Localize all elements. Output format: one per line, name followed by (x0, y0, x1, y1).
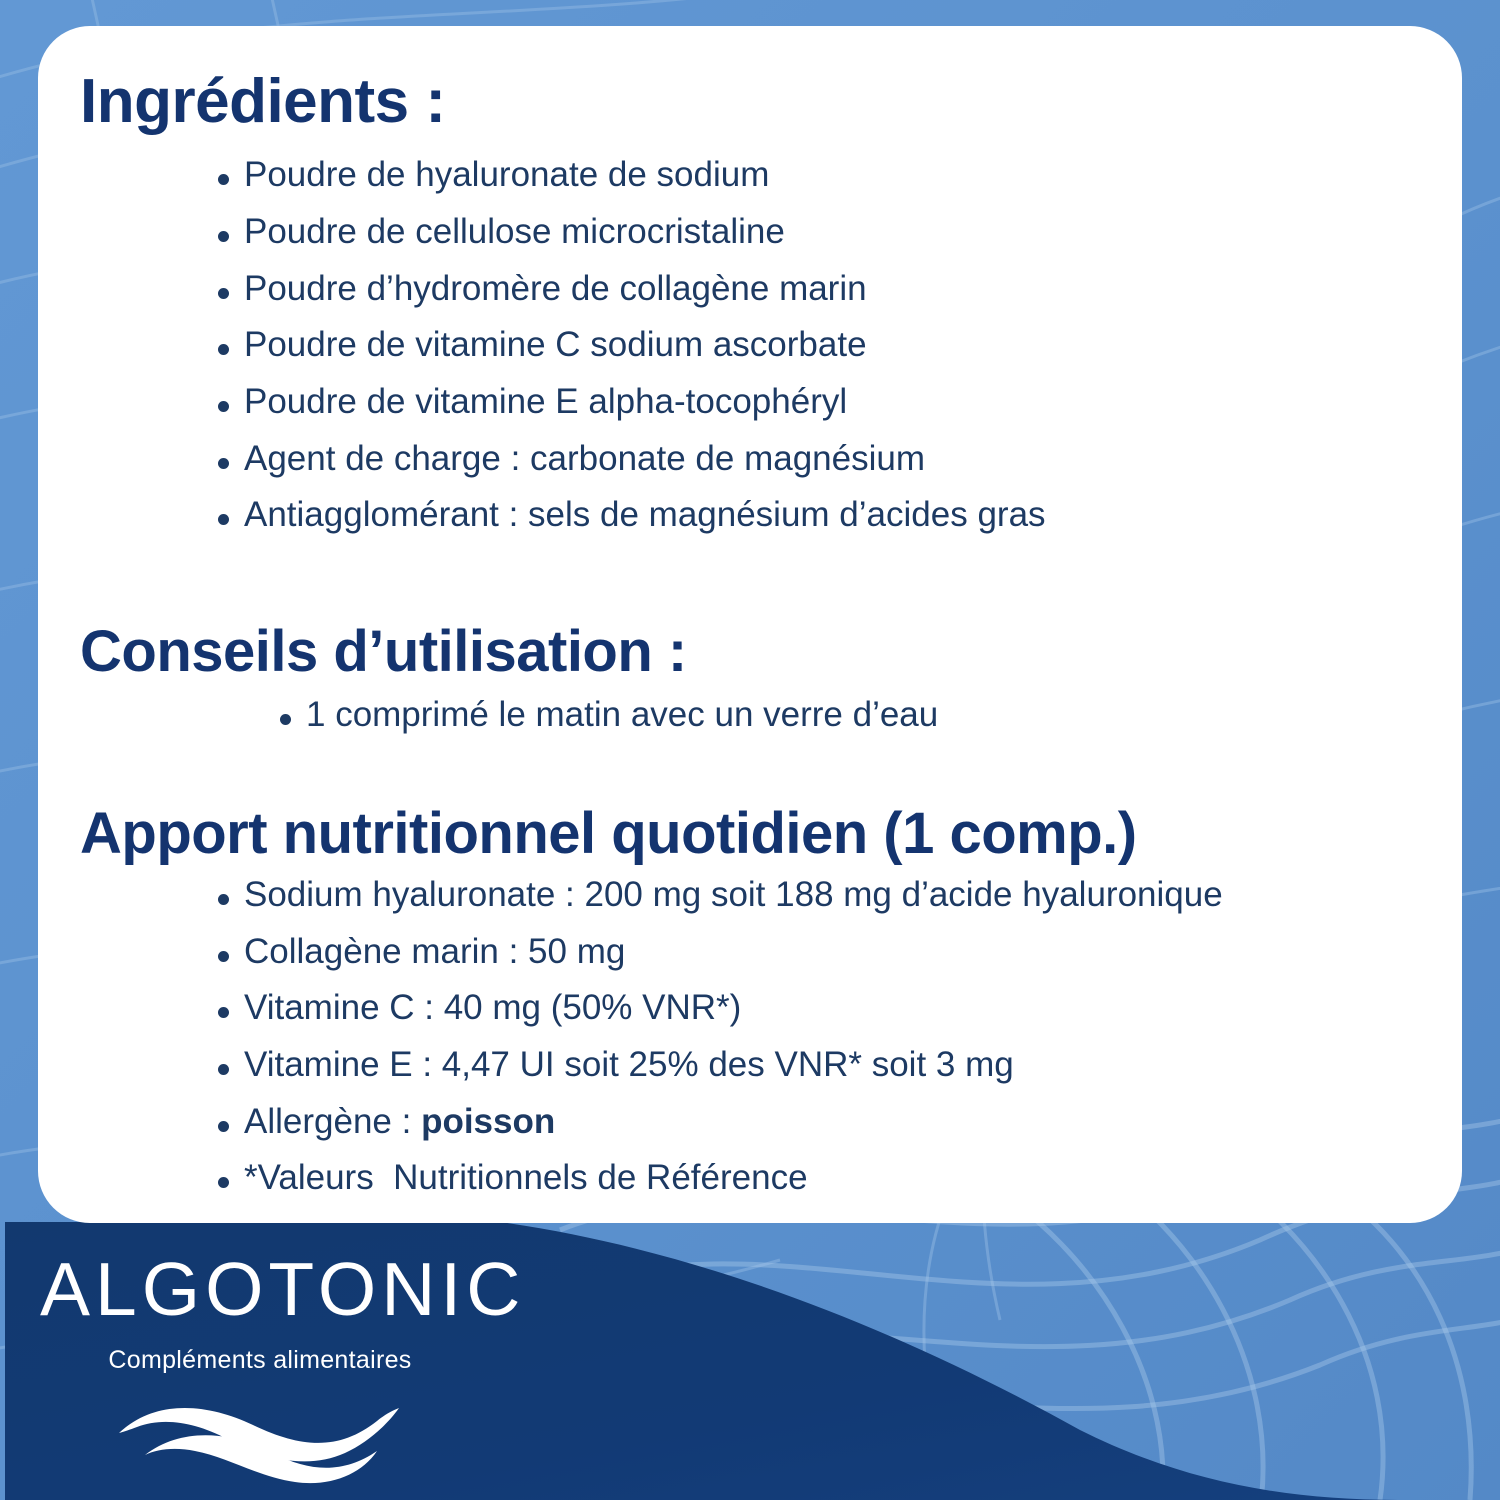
allergen-label: Allergène : (244, 1102, 421, 1141)
wave-swoosh-icon (115, 1399, 405, 1491)
apport-list: Sodium hyaluronate : 200 mg soit 188 mg … (244, 867, 1422, 1207)
ingredients-list: Poudre de hyaluronate de sodium Poudre d… (244, 147, 1422, 544)
list-item: Agent de charge : carbonate de magnésium (244, 431, 1422, 488)
conseils-list: 1 comprimé le matin avec un verre d’eau (306, 687, 1422, 744)
list-item: Poudre de cellulose microcristaline (244, 204, 1422, 261)
logo-tagline: Compléments alimentaires (40, 1346, 480, 1375)
list-item: 1 comprimé le matin avec un verre d’eau (306, 687, 1422, 744)
list-item: Poudre de vitamine E alpha-tocophéryl (244, 374, 1422, 431)
apport-heading: Apport nutritionnel quotidien (1 comp.) (80, 804, 1422, 863)
list-item: Poudre de vitamine C sodium ascorbate (244, 317, 1422, 374)
allergen-value: poisson (421, 1102, 555, 1141)
conseils-heading: Conseils d’utilisation : (80, 622, 1422, 681)
section-spacer (78, 544, 1422, 622)
brand-logo: ALGOTONIC Compléments alimentaires (40, 1252, 480, 1491)
list-item: *Valeurs Nutritionnels de Référence (244, 1150, 1422, 1207)
list-item: Poudre d’hydromère de collagène marin (244, 261, 1422, 318)
list-item: Poudre de hyaluronate de sodium (244, 147, 1422, 204)
ingredients-heading: Ingrédients : (80, 70, 1422, 133)
section-spacer (78, 744, 1422, 804)
list-item: Vitamine C : 40 mg (50% VNR*) (244, 980, 1422, 1037)
content-card: Ingrédients : Poudre de hyaluronate de s… (38, 26, 1462, 1223)
label-artwork: Ingrédients : Poudre de hyaluronate de s… (0, 0, 1500, 1500)
logo-wordmark: ALGOTONIC (40, 1252, 480, 1327)
list-item-allergen: Allergène : poisson (244, 1094, 1422, 1151)
list-item: Antiagglomérant : sels de magnésium d’ac… (244, 487, 1422, 544)
list-item: Vitamine E : 4,47 UI soit 25% des VNR* s… (244, 1037, 1422, 1094)
list-item: Collagène marin : 50 mg (244, 924, 1422, 981)
list-item: Sodium hyaluronate : 200 mg soit 188 mg … (244, 867, 1422, 924)
